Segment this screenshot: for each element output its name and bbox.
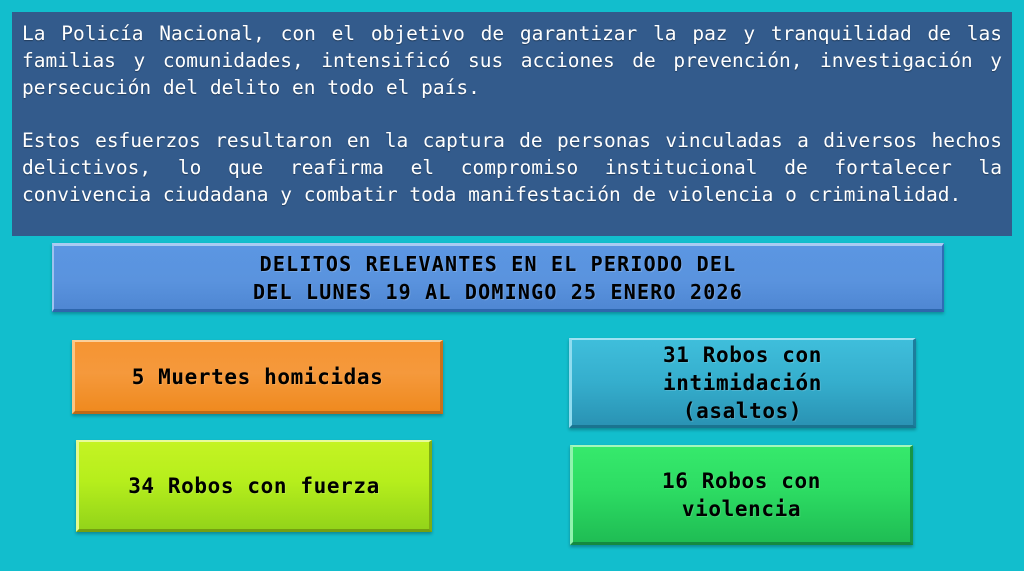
slide-root: { "slide": { "background_color": "#12bec… <box>0 0 1024 571</box>
stat-label-robos-con-intimidacion: 31 Robos con intimidación (asaltos) <box>653 341 832 425</box>
stat-card-robos-con-intimidacion[interactable]: 31 Robos con intimidación (asaltos) <box>569 338 916 428</box>
stat-label-robos-con-violencia: 16 Robos con violencia <box>652 467 831 523</box>
period-banner-line-1: DELITOS RELEVANTES EN EL PERIODO DEL <box>260 250 737 278</box>
stat-card-muertes-homicidas[interactable]: 5 Muertes homicidas <box>72 340 443 414</box>
stat-label-muertes-homicidas: 5 Muertes homicidas <box>122 363 394 391</box>
period-banner-line-2: DEL LUNES 19 AL DOMINGO 25 ENERO 2026 <box>253 278 743 306</box>
intro-paragraph-2: Estos esfuerzos resultaron en la captura… <box>22 127 1002 208</box>
stat-card-robos-con-fuerza[interactable]: 34 Robos con fuerza <box>76 440 432 532</box>
period-banner: DELITOS RELEVANTES EN EL PERIODO DEL DEL… <box>52 243 944 312</box>
intro-paragraph-1: La Policía Nacional, con el objetivo de … <box>22 20 1002 101</box>
intro-text-panel: La Policía Nacional, con el objetivo de … <box>12 12 1012 236</box>
stat-card-robos-con-violencia[interactable]: 16 Robos con violencia <box>570 445 913 545</box>
stat-label-robos-con-fuerza: 34 Robos con fuerza <box>118 472 390 500</box>
